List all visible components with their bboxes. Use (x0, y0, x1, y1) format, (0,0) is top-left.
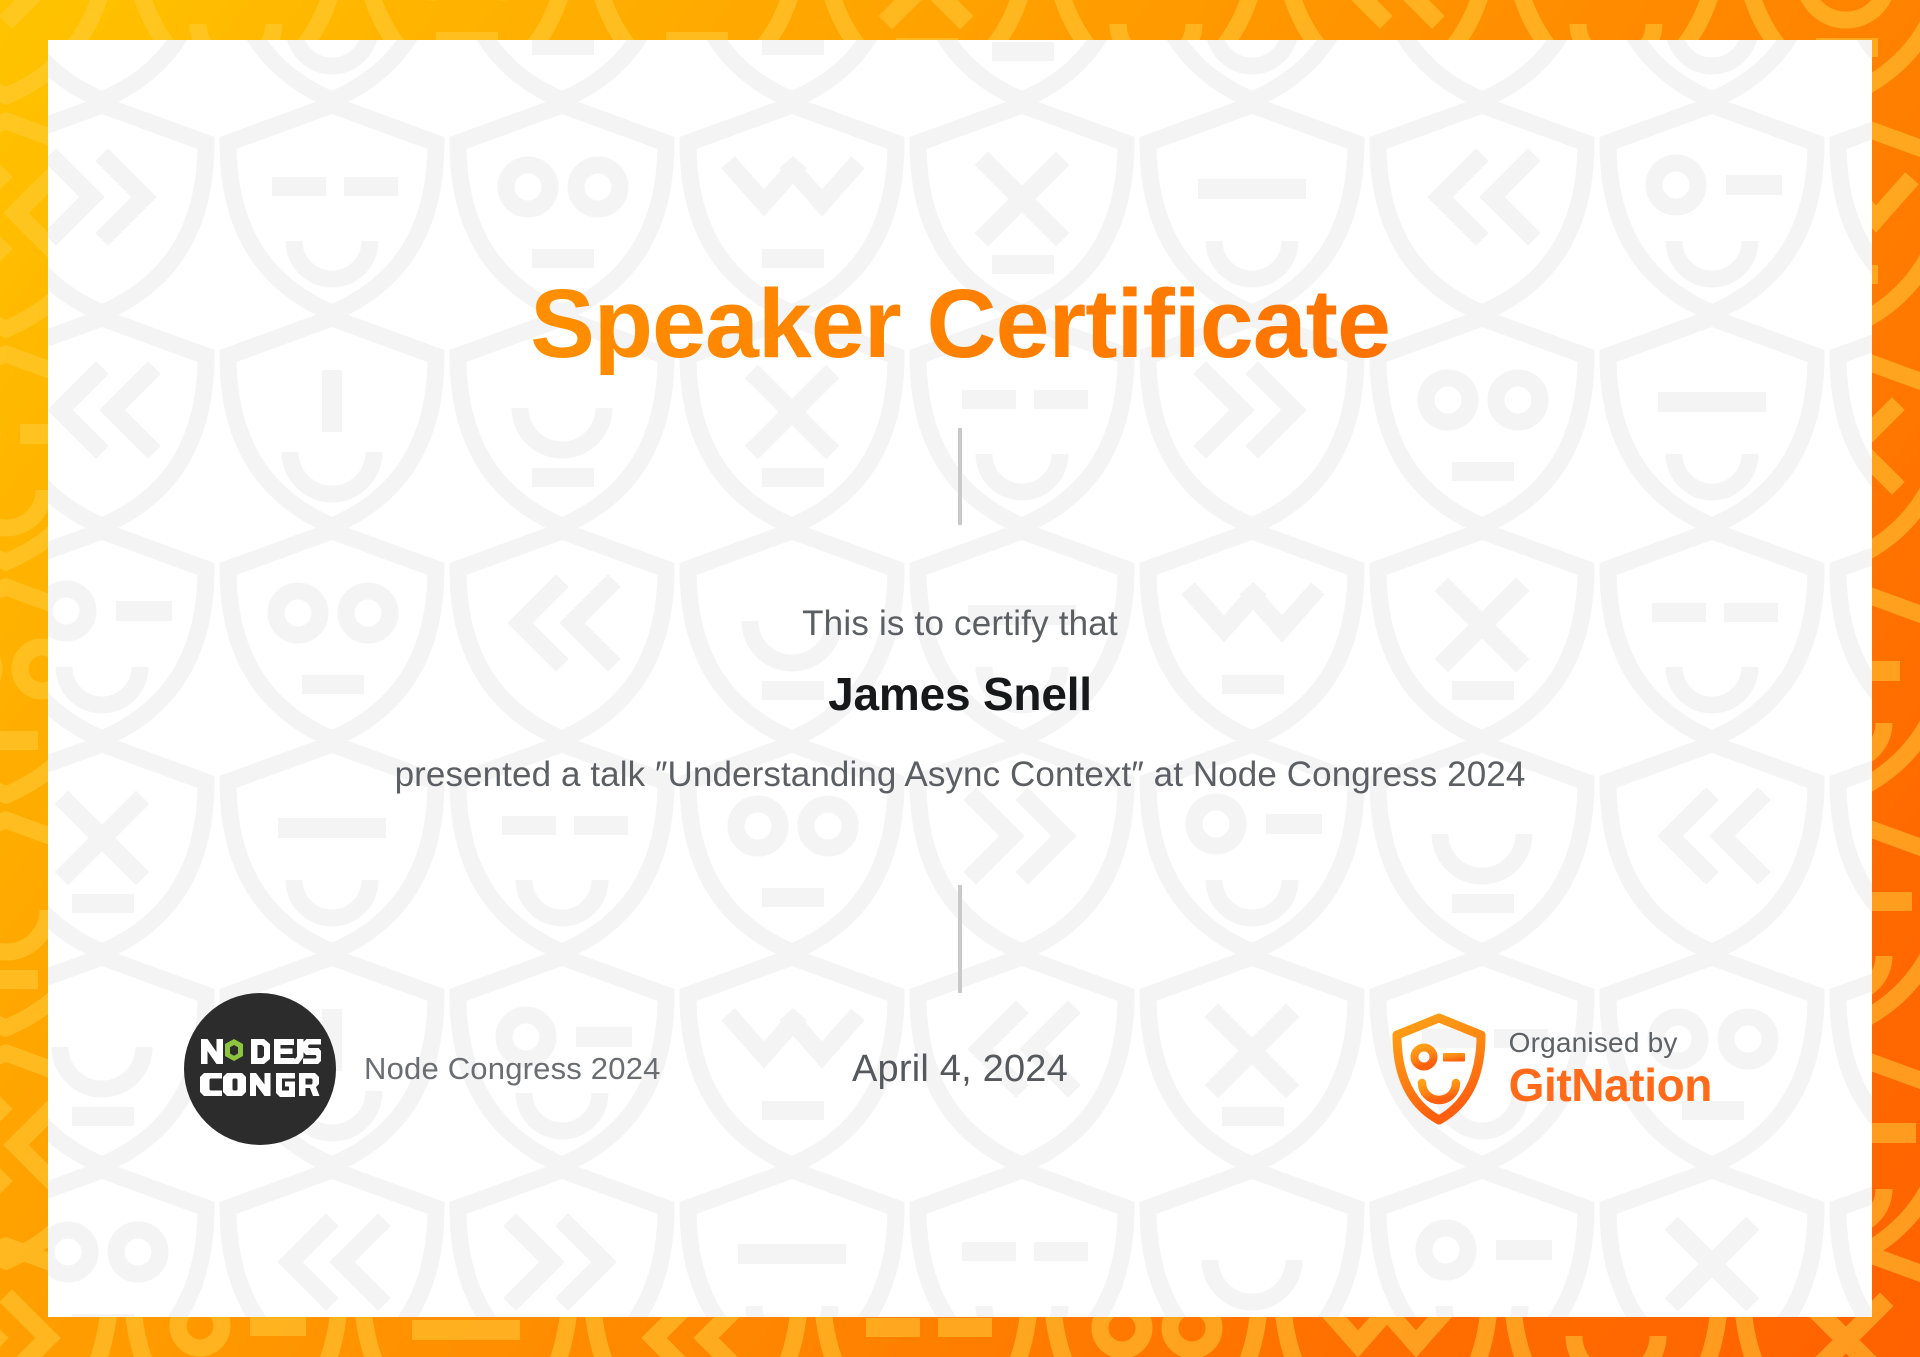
recipient-name: James Snell (48, 667, 1872, 722)
organised-by-label: Organised by (1509, 1028, 1712, 1058)
gitnation-brand-label: GitNation (1509, 1061, 1712, 1110)
certificate-body: This is to certify that James Snell pres… (48, 603, 1872, 798)
gitnation-shield-icon (1391, 1013, 1487, 1125)
organiser-text: Organised by GitNation (1509, 1028, 1712, 1110)
talk-statement: presented a talk ″Understanding Async Co… (48, 752, 1872, 798)
organiser-block: Organised by GitNation (1391, 989, 1712, 1149)
divider-top (958, 428, 962, 525)
divider-bottom (958, 885, 962, 993)
certificate-card: Speaker Certificate This is to certify t… (48, 40, 1872, 1317)
page-title: Speaker Certificate (48, 273, 1872, 375)
issue-date: April 4, 2024 (852, 1048, 1068, 1091)
certificate-footer: Node Congress 2024 April 4, 2024 (48, 989, 1872, 1149)
certify-statement: This is to certify that (48, 603, 1872, 645)
certificate-page: Speaker Certificate This is to certify t… (0, 0, 1920, 1357)
